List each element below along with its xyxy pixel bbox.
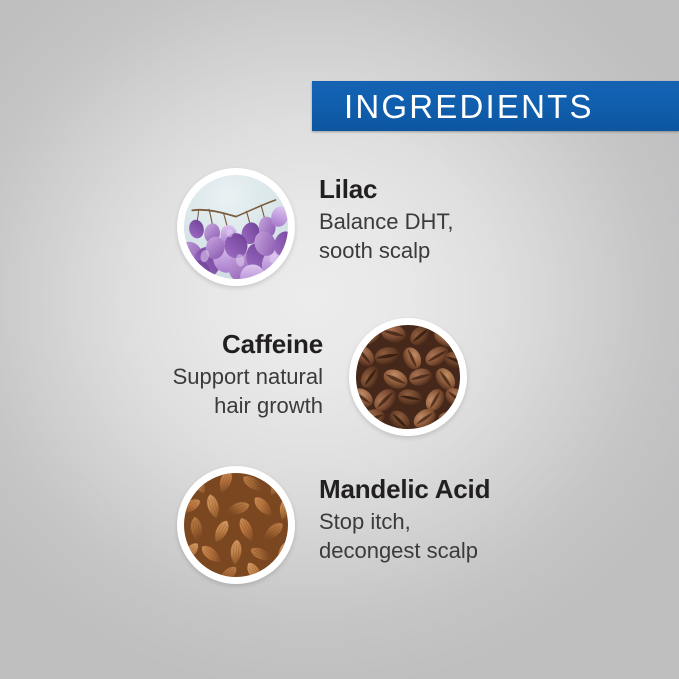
ingredient-name-lilac: Lilac (319, 175, 619, 204)
ingredient-description-caffeine: Support natural hair growth (40, 363, 323, 420)
ingredient-name-mandelic-acid: Mandelic Acid (319, 475, 629, 504)
coffee-image-circle (349, 318, 467, 436)
ingredient-block-caffeine: Caffeine Support natural hair growth (40, 330, 323, 420)
ingredients-banner: INGREDIENTS (312, 81, 679, 131)
almond-image-circle (177, 466, 295, 584)
ingredient-description-lilac: Balance DHT, sooth scalp (319, 208, 619, 265)
lilac-flowers-photo (184, 175, 288, 279)
ingredients-poster: INGREDIENTS (0, 0, 679, 679)
almonds-photo (184, 473, 288, 577)
lilac-image-circle (177, 168, 295, 286)
ingredient-block-lilac: Lilac Balance DHT, sooth scalp (319, 175, 619, 265)
ingredient-name-caffeine: Caffeine (40, 330, 323, 359)
ingredient-block-mandelic-acid: Mandelic Acid Stop itch, decongest scalp (319, 475, 629, 565)
coffee-beans-photo (356, 325, 460, 429)
ingredient-description-mandelic-acid: Stop itch, decongest scalp (319, 508, 629, 565)
banner-title: INGREDIENTS (344, 90, 594, 123)
